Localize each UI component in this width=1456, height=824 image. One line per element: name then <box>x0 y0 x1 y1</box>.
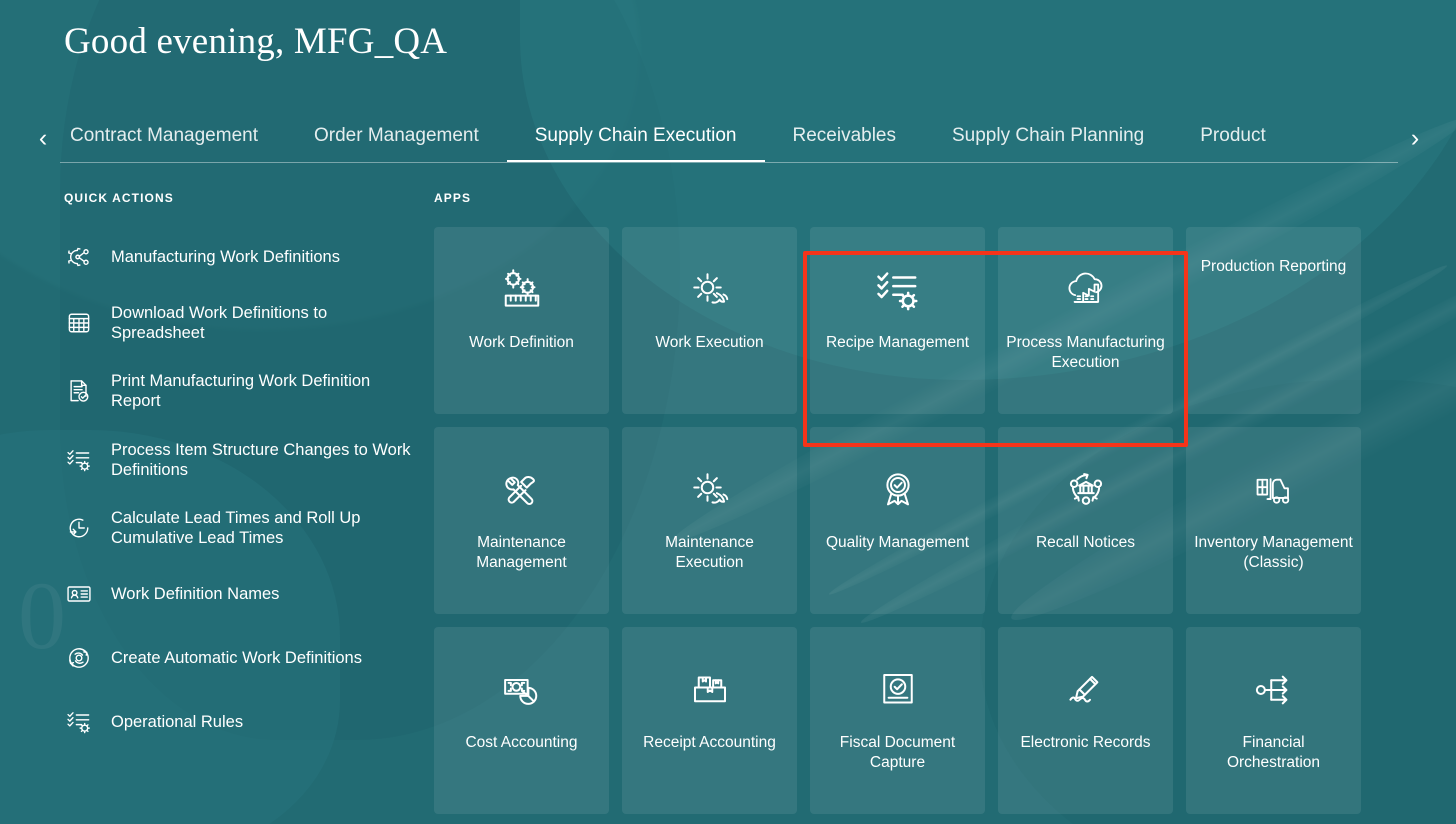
app-tile-label: Quality Management <box>818 533 977 553</box>
gears-ruler-icon <box>497 261 547 319</box>
tab-order-management[interactable]: Order Management <box>286 126 507 163</box>
checklist-gear-icon <box>873 261 923 319</box>
app-tile-receipt-accounting[interactable]: Receipt Accounting <box>622 627 797 814</box>
quick-actions-title: QUICK ACTIONS <box>64 191 424 205</box>
boxes-icon <box>685 661 735 719</box>
quick-action-label: Process Item Structure Changes to Work D… <box>111 440 411 480</box>
quick-action-label: Create Automatic Work Definitions <box>111 648 362 668</box>
quick-action-label: Manufacturing Work Definitions <box>111 247 340 267</box>
checklist-gear-icon <box>64 445 94 475</box>
quick-action-label: Download Work Definitions to Spreadsheet <box>111 303 411 343</box>
tab-scroll-right-icon[interactable]: › <box>1398 126 1432 163</box>
award-ribbon-icon <box>873 461 923 519</box>
app-tile-financial-orchestration[interactable]: Financial Orchestration <box>1186 627 1361 814</box>
app-tile-electronic-records[interactable]: Electronic Records <box>998 627 1173 814</box>
tab-receivables[interactable]: Receivables <box>765 126 925 163</box>
gear-network-icon <box>64 242 94 272</box>
recall-network-icon <box>1061 461 1111 519</box>
main-content: QUICK ACTIONS Manufacturing Work Definit… <box>0 163 1456 814</box>
page-title: Good evening, MFG_QA <box>0 0 1456 63</box>
quick-action-item[interactable]: Work Definition Names <box>64 576 424 612</box>
app-tile-label: Inventory Management (Classic) <box>1186 533 1361 573</box>
app-tile-label: Recall Notices <box>1028 533 1143 553</box>
app-tile-work-execution[interactable]: Work Execution <box>622 227 797 414</box>
app-tile-work-definition[interactable]: Work Definition <box>434 227 609 414</box>
forklift-icon <box>1249 461 1299 519</box>
quick-action-label: Print Manufacturing Work Definition Repo… <box>111 371 411 411</box>
gear-wrench-icon <box>685 261 735 319</box>
apps-panel: APPS Work DefinitionWork ExecutionRecipe… <box>424 191 1432 814</box>
wrench-hammer-icon <box>497 461 547 519</box>
tab-product[interactable]: Product <box>1172 126 1293 163</box>
apps-grid: Work DefinitionWork ExecutionRecipe Mana… <box>434 227 1432 814</box>
quick-action-label: Calculate Lead Times and Roll Up Cumulat… <box>111 508 411 548</box>
app-tile-label: Production Reporting <box>1193 257 1355 277</box>
gear-wrench-icon <box>685 461 735 519</box>
signature-pen-icon <box>1061 661 1111 719</box>
quick-action-label: Operational Rules <box>111 712 243 732</box>
app-tile-recall-notices[interactable]: Recall Notices <box>998 427 1173 614</box>
app-tile-label: Work Execution <box>647 333 771 353</box>
app-tile-label: Electronic Records <box>1012 733 1158 753</box>
tab-contract-management[interactable]: Contract Management <box>60 126 286 163</box>
quick-actions-panel: QUICK ACTIONS Manufacturing Work Definit… <box>24 191 424 814</box>
app-tile-maintenance-execution[interactable]: Maintenance Execution <box>622 427 797 614</box>
app-tile-label: Process Manufacturing Execution <box>998 333 1173 373</box>
tab-supply-chain-execution[interactable]: Supply Chain Execution <box>507 126 765 163</box>
tab-supply-chain-planning[interactable]: Supply Chain Planning <box>924 126 1172 163</box>
app-tile-label: Financial Orchestration <box>1186 733 1361 773</box>
document-approved-icon <box>873 661 923 719</box>
quick-action-label: Work Definition Names <box>111 584 279 604</box>
cloud-factory-icon <box>1061 261 1111 319</box>
quick-action-item[interactable]: Operational Rules <box>64 704 424 740</box>
quick-action-item[interactable]: Print Manufacturing Work Definition Repo… <box>64 371 424 411</box>
quick-action-item[interactable]: Create Automatic Work Definitions <box>64 640 424 676</box>
quick-action-item[interactable]: Download Work Definitions to Spreadsheet <box>64 303 424 343</box>
app-tile-recipe-management[interactable]: Recipe Management <box>810 227 985 414</box>
circular-arrows-icon <box>64 643 94 673</box>
app-tile-label: Maintenance Execution <box>622 533 797 573</box>
clock-arrow-icon <box>64 513 94 543</box>
app-tile-process-manufacturing-execution[interactable]: Process Manufacturing Execution <box>998 227 1173 414</box>
orchestration-arrows-icon <box>1249 661 1299 719</box>
app-tile-production-reporting[interactable]: Production Reporting <box>1186 227 1361 414</box>
quick-action-item[interactable]: Manufacturing Work Definitions <box>64 239 424 275</box>
app-tile-inventory-management-classic-[interactable]: Inventory Management (Classic) <box>1186 427 1361 614</box>
app-tile-label: Fiscal Document Capture <box>810 733 985 773</box>
app-tile-maintenance-management[interactable]: Maintenance Management <box>434 427 609 614</box>
id-card-icon <box>64 579 94 609</box>
money-chart-icon <box>497 661 547 719</box>
app-tile-fiscal-document-capture[interactable]: Fiscal Document Capture <box>810 627 985 814</box>
app-tile-label: Work Definition <box>461 333 582 353</box>
tab-scroll-left-icon[interactable]: ‹ <box>26 126 60 163</box>
tab-bar: ‹ Contract ManagementOrder ManagementSup… <box>0 109 1456 163</box>
app-tile-cost-accounting[interactable]: Cost Accounting <box>434 627 609 814</box>
app-tile-quality-management[interactable]: Quality Management <box>810 427 985 614</box>
tab-list: Contract ManagementOrder ManagementSuppl… <box>60 109 1398 163</box>
app-tile-label: Recipe Management <box>818 333 977 353</box>
document-check-icon <box>64 376 94 406</box>
checklist-gear-icon <box>64 707 94 737</box>
app-tile-label: Receipt Accounting <box>635 733 784 753</box>
spreadsheet-icon <box>64 308 94 338</box>
apps-title: APPS <box>434 191 1432 205</box>
app-tile-label: Maintenance Management <box>434 533 609 573</box>
quick-action-item[interactable]: Calculate Lead Times and Roll Up Cumulat… <box>64 508 424 548</box>
quick-actions-list: Manufacturing Work DefinitionsDownload W… <box>64 239 424 740</box>
app-tile-label: Cost Accounting <box>457 733 585 753</box>
quick-action-item[interactable]: Process Item Structure Changes to Work D… <box>64 440 424 480</box>
